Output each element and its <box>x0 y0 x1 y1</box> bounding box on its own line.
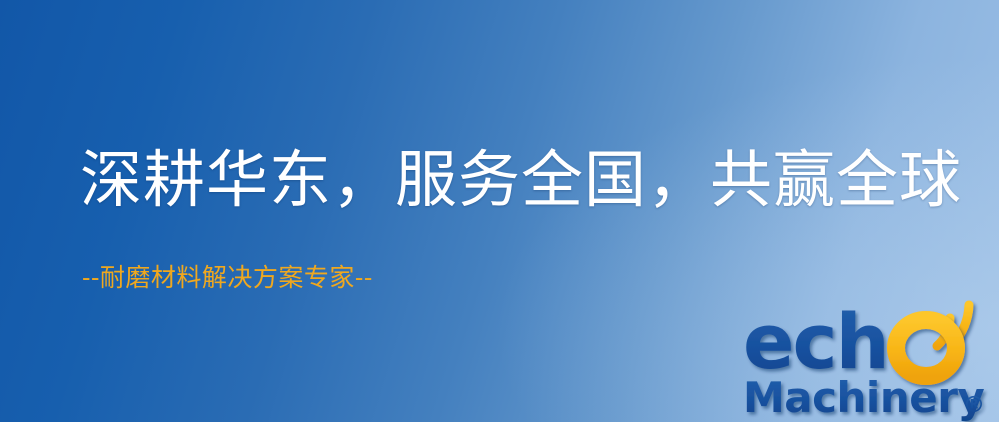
logo-tagline-text: Machinery <box>743 373 984 422</box>
hero-banner: 深耕华东，服务全国，共赢全球 --耐磨材料解决方案专家-- <box>0 0 999 422</box>
echo-machinery-logo: ech Machinery ® <box>741 292 993 420</box>
logo-tagline: Machinery ® <box>743 373 985 422</box>
registered-trademark-icon: ® <box>963 393 985 418</box>
logo-accent-o <box>896 320 956 376</box>
banner-subtitle: --耐磨材料解决方案专家-- <box>82 264 373 292</box>
banner-headline: 深耕华东，服务全国，共赢全球 <box>80 148 962 212</box>
